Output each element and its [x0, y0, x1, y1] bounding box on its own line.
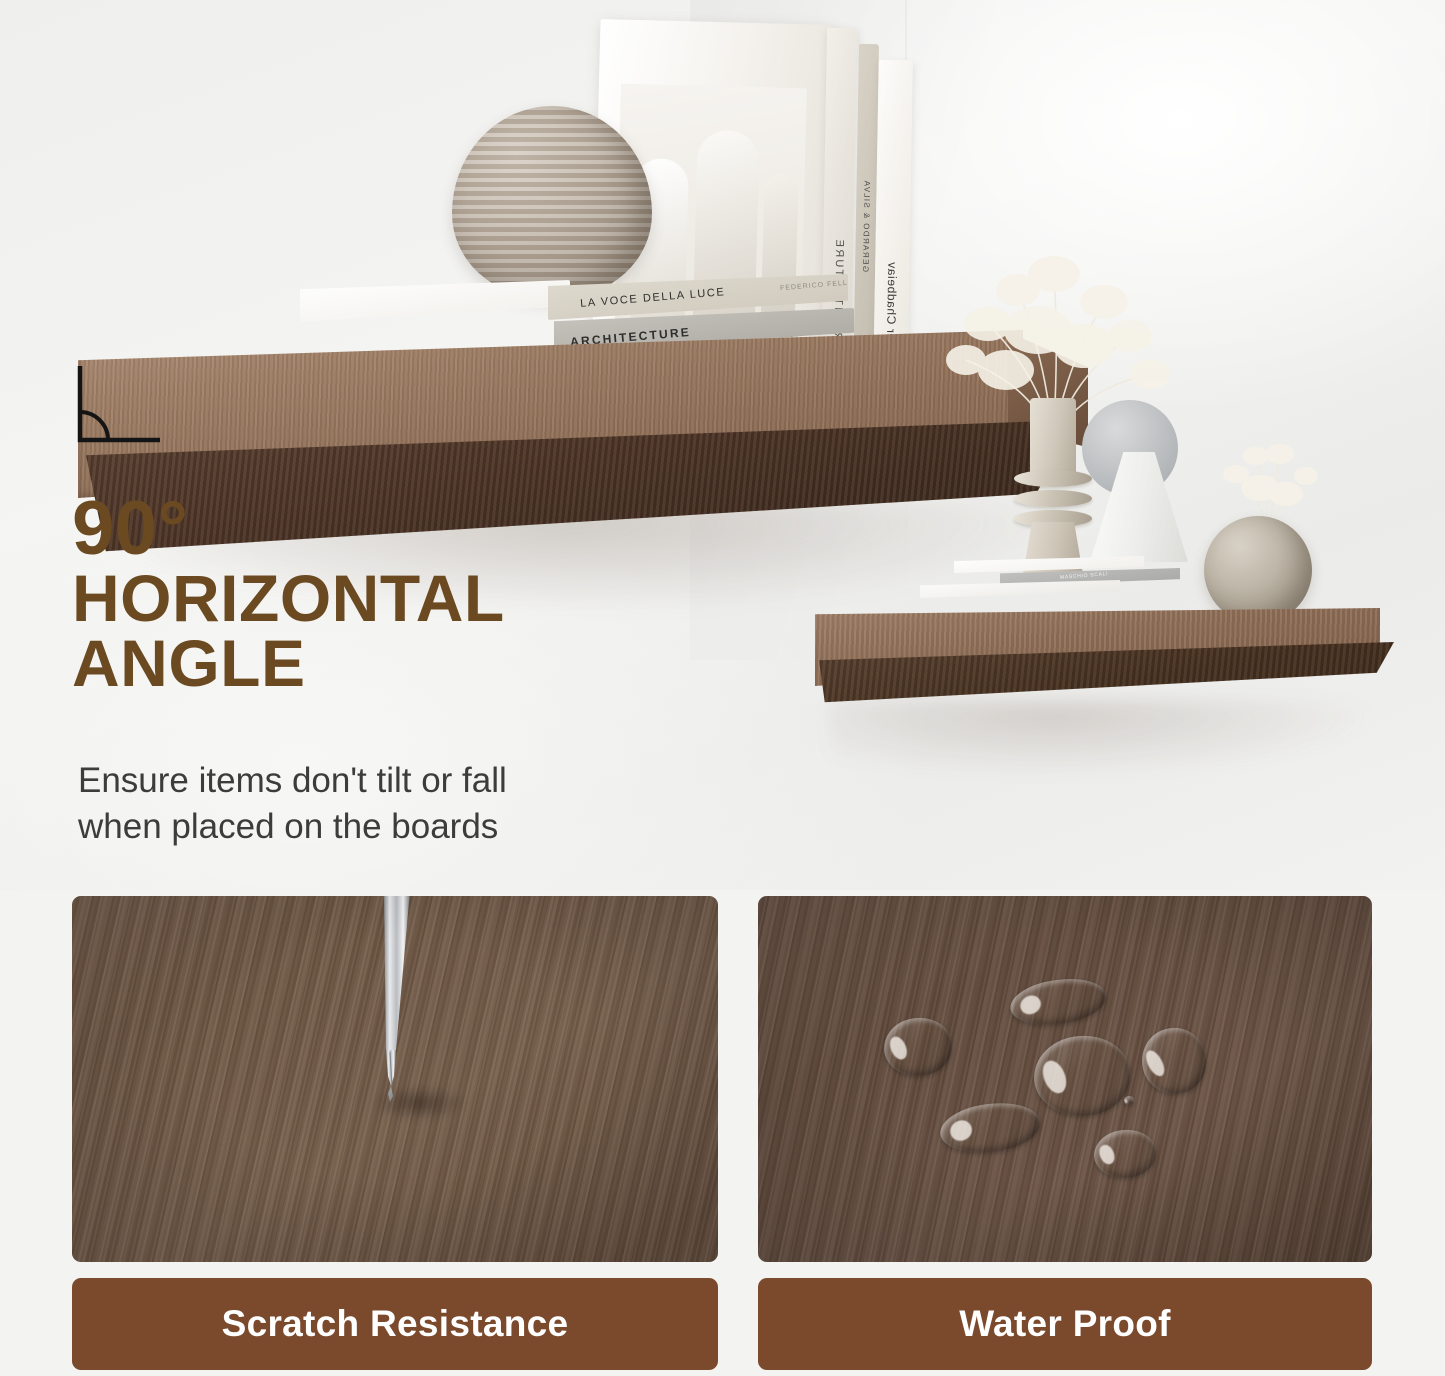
hero-scene: ARCHITECTURE GERARDO & SILVA Peter Chadb…	[0, 0, 1445, 890]
tall-book-spine-gerardo-text: GERARDO & SILVA	[861, 179, 872, 272]
feature-image-scratch	[72, 896, 718, 1262]
panel-vignette	[758, 896, 1372, 1262]
stemmed-vase-ring-1	[1014, 470, 1092, 487]
book-la-voce-title: LA VOCE DELLA LUCE	[580, 286, 726, 310]
headline-degrees: 90°	[72, 492, 712, 566]
lower-book-white-2	[920, 580, 1120, 598]
subcopy-line-1: Ensure items don't tilt or fall	[78, 758, 698, 804]
stemmed-vase-ring-2	[1014, 490, 1092, 507]
label-water-proof[interactable]: Water Proof	[758, 1278, 1372, 1370]
label-scratch-resistance[interactable]: Scratch Resistance	[72, 1278, 718, 1370]
waterproof-photo	[758, 896, 1372, 1262]
product-feature-image: ARCHITECTURE GERARDO & SILVA Peter Chadb…	[0, 0, 1445, 1376]
stemmed-vase	[1010, 398, 1096, 580]
subcopy-line-2: when placed on the boards	[78, 804, 698, 850]
book-la-voce-author: FEDERICO FELLINI	[780, 279, 860, 292]
headline-line-1: HORIZONTAL	[72, 566, 712, 631]
stemmed-vase-neck	[1030, 398, 1076, 476]
right-angle-marker-icon	[74, 362, 166, 446]
subcopy-block: Ensure items don't tilt or fall when pla…	[78, 758, 698, 850]
lower-book-title: MASCHIO SCALI	[1060, 571, 1109, 581]
headline-line-2: ANGLE	[72, 631, 712, 696]
feature-image-waterproof	[758, 896, 1372, 1262]
label-scratch-resistance-text: Scratch Resistance	[222, 1303, 569, 1345]
label-water-proof-text: Water Proof	[959, 1303, 1171, 1345]
lower-book-stack: MASCHIO SCALI	[920, 556, 1180, 602]
shelf-lower	[815, 600, 1395, 730]
headline-block: 90° HORIZONTAL ANGLE	[72, 492, 712, 696]
scratch-photo	[72, 896, 718, 1262]
panel-vignette	[72, 896, 718, 1262]
